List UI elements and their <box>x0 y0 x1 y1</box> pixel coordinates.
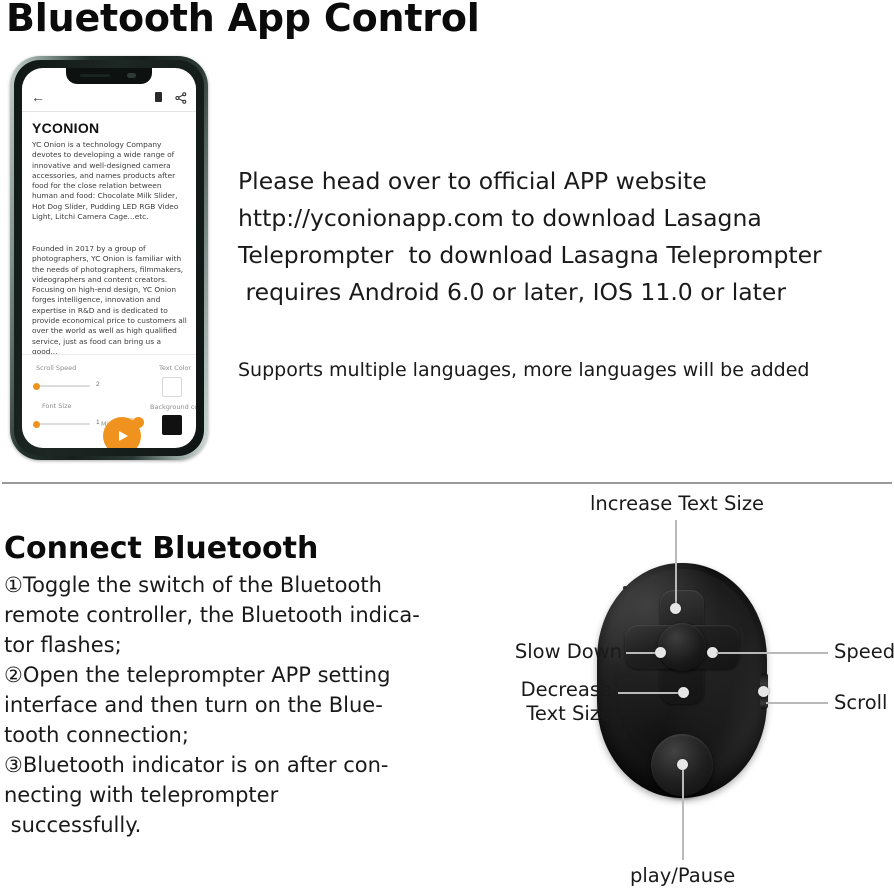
back-arrow-icon[interactable]: ← <box>31 90 45 104</box>
text-color-label: Text Color <box>159 364 191 372</box>
leader-line-decrease-text-size <box>618 692 683 694</box>
leader-line-speed-up <box>716 652 828 654</box>
intro-line-1: Please head over to official APP website <box>238 163 878 200</box>
phone-bezel: ← <box>14 60 204 456</box>
app-control-panel: Scroll Speed 2 Font Size 1 Mirror <box>22 354 196 420</box>
app-brand-title: YCONION <box>32 120 99 136</box>
callout-scroll: Scroll <box>834 691 887 714</box>
app-top-bar: ← <box>22 84 196 110</box>
callout-play-pause: play/Pause <box>630 864 735 887</box>
hotspot-increase-text-size[interactable] <box>670 603 681 614</box>
step-line: necting with teleprompter <box>4 780 424 810</box>
hotspot-decrease-text-size[interactable] <box>678 687 689 698</box>
step-line: tooth connection; <box>4 720 424 750</box>
phone-mockup: ← <box>10 56 208 460</box>
leader-line-increase-text-size <box>675 520 677 608</box>
page-title: Bluetooth App Control <box>6 0 480 40</box>
hotspot-play-pause[interactable] <box>677 759 688 770</box>
language-support-note: Supports multiple languages, more langua… <box>238 357 878 383</box>
callout-increase-text-size: lncrease Text Size <box>590 492 764 515</box>
scroll-speed-slider[interactable] <box>35 385 90 387</box>
phone-notch <box>66 68 152 84</box>
font-size-slider-knob[interactable] <box>33 421 40 428</box>
play-button[interactable] <box>103 417 141 448</box>
text-color-swatch[interactable] <box>162 377 182 397</box>
connect-bluetooth-heading: Connect Bluetooth <box>4 531 318 566</box>
step-line: ③Bluetooth indicator is on after con- <box>4 750 424 780</box>
leader-line-scroll <box>766 702 828 704</box>
callout-decrease-text-size-line1: Decrease <box>430 678 612 701</box>
phone-frame: ← <box>10 56 208 460</box>
scroll-speed-slider-knob[interactable] <box>33 383 40 390</box>
scroll-speed-value: 2 <box>96 381 100 388</box>
app-bar-divider <box>22 111 196 112</box>
background-color-swatch[interactable] <box>162 415 182 435</box>
hotspot-slow-down[interactable] <box>655 647 666 658</box>
play-icon <box>119 431 128 441</box>
step-line: ②Open the teleprompter APP setting <box>4 660 424 690</box>
hotspot-scroll[interactable] <box>758 686 769 697</box>
app-paragraph-2: Founded in 2017 by a group of photograph… <box>32 244 187 357</box>
app-paragraph-1: YC Onion is a technology Company devotes… <box>32 140 187 222</box>
callout-decrease-text-size-line2: Text Size <box>430 702 612 725</box>
scroll-speed-label: Scroll Speed <box>36 364 76 372</box>
step-line: interface and then turn on the Blue- <box>4 690 424 720</box>
dpad-center-button[interactable] <box>658 623 706 671</box>
step-line: successfully. <box>4 810 424 840</box>
remote-control-diagram: lncrease Text Size Slow Down Decrease Te… <box>560 480 894 890</box>
intro-text-block: Please head over to official APP website… <box>238 163 878 311</box>
phone-screen: ← <box>22 68 196 448</box>
intro-line-3: Teleprompter to download Lasagna Telepro… <box>238 237 878 274</box>
font-size-slider[interactable] <box>35 423 90 425</box>
background-color-label: Background color <box>150 403 196 411</box>
callout-speed-up: Speed up <box>834 640 894 663</box>
front-camera-icon <box>127 73 136 78</box>
connect-bluetooth-steps: ①Toggle the switch of the Bluetooth remo… <box>4 570 424 840</box>
step-line: remote controller, the Bluetooth indica- <box>4 600 424 630</box>
page-root: Bluetooth App Control ← <box>0 0 894 890</box>
earpiece-speaker <box>80 74 110 77</box>
font-size-value: 1 <box>96 419 100 426</box>
intro-line-2: http://yconionapp.com to download Lasagn… <box>238 200 878 237</box>
callout-slow-down: Slow Down <box>430 640 622 663</box>
share-icon[interactable] <box>175 91 187 103</box>
delete-icon[interactable] <box>155 92 162 102</box>
font-size-label: Font Size <box>42 402 72 410</box>
step-line: ①Toggle the switch of the Bluetooth <box>4 570 424 600</box>
leader-line-play-pause <box>682 770 684 860</box>
step-line: tor flashes; <box>4 630 424 660</box>
intro-line-4: requires Android 6.0 or later, IOS 11.0 … <box>238 274 878 311</box>
